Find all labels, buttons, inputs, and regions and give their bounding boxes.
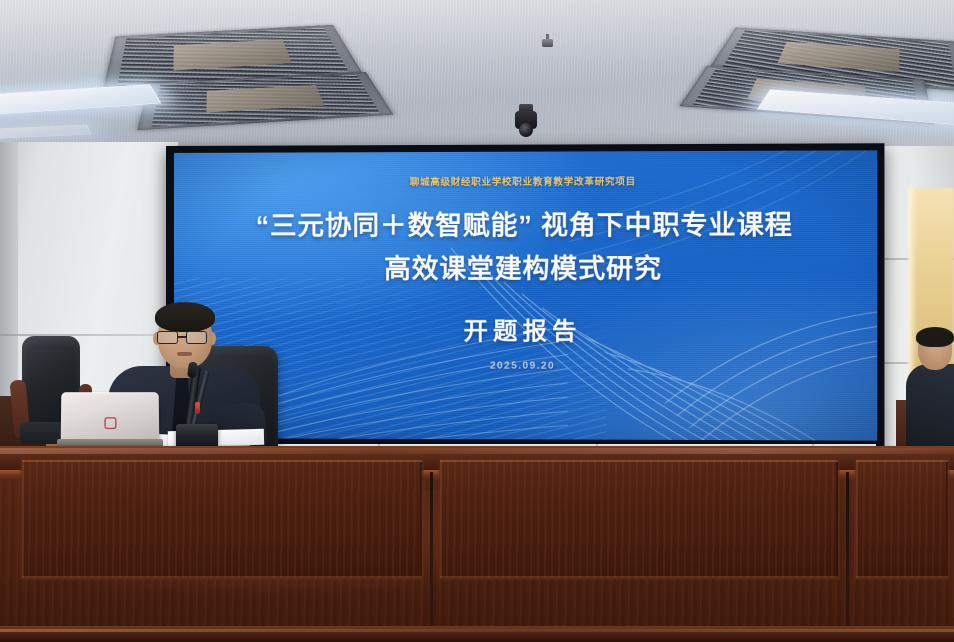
ptz-camera-icon — [515, 104, 537, 138]
desk-panel — [22, 460, 422, 578]
partial-attendee — [900, 330, 954, 458]
laptop[interactable]: ▢ — [57, 392, 163, 454]
desk-base-moulding — [0, 626, 954, 642]
conference-room-scene: 聊城高级财经职业学校职业教育教学改革研究项目 “三元协同＋数智赋能” 视角下中职… — [0, 0, 954, 642]
conference-desk — [0, 446, 954, 642]
desk-seam — [430, 472, 433, 642]
slide-vignette — [174, 150, 877, 440]
eyeglasses-icon — [156, 331, 214, 344]
fire-sprinkler-icon — [542, 34, 553, 48]
desk-seam — [846, 472, 849, 642]
desk-panel — [856, 460, 948, 578]
mic-status-led — [195, 402, 200, 414]
desk-panel — [440, 460, 838, 578]
laptop-logo-icon: ▢ — [101, 414, 120, 431]
conference-microphone[interactable] — [176, 366, 218, 452]
presentation-slide[interactable]: 聊城高级财经职业学校职业教育教学改革研究项目 “三元协同＋数智赋能” 视角下中职… — [174, 150, 877, 440]
